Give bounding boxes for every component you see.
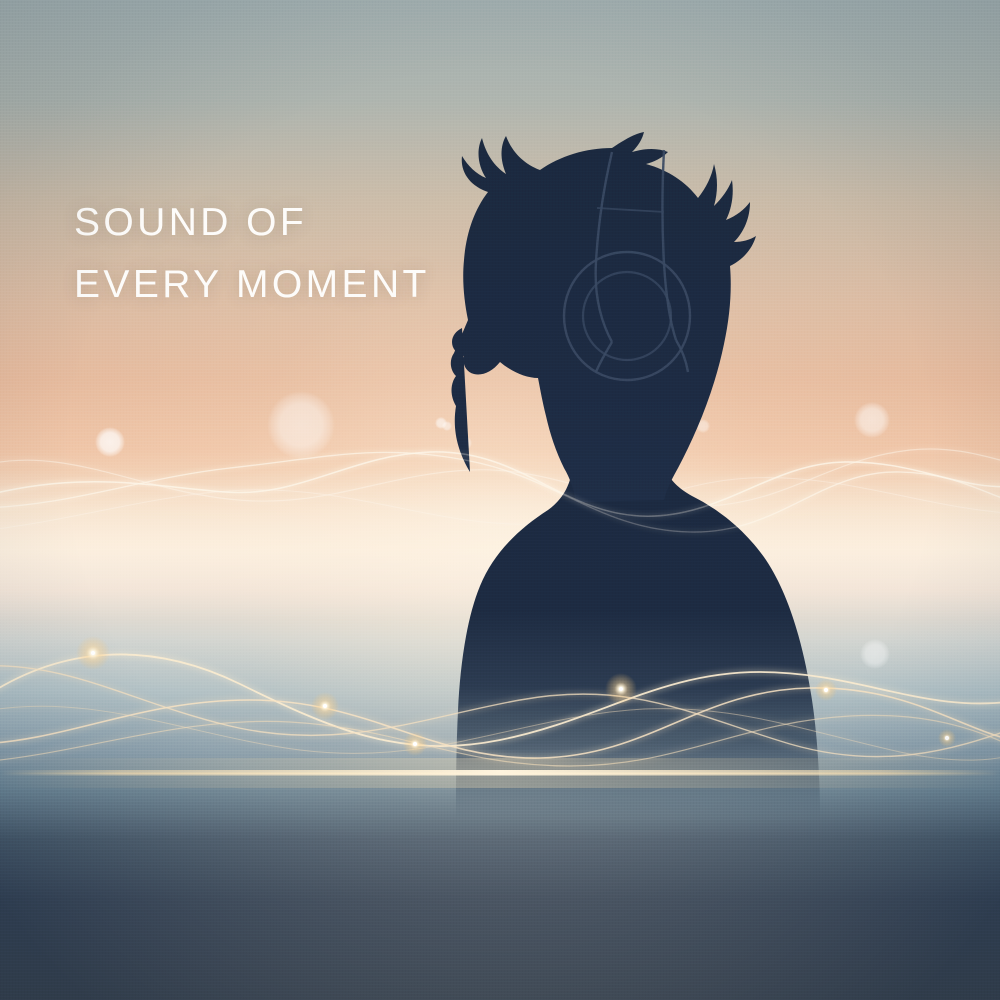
album-artwork: SOUND OF EVERY MOMENT xyxy=(0,0,1000,1000)
horizon-layer xyxy=(0,0,1000,1000)
title-line-2: EVERY MOMENT xyxy=(74,254,430,316)
artwork-title: SOUND OF EVERY MOMENT xyxy=(74,192,430,316)
title-line-1: SOUND OF xyxy=(74,192,430,254)
horizon-glow-thin xyxy=(0,773,1000,775)
